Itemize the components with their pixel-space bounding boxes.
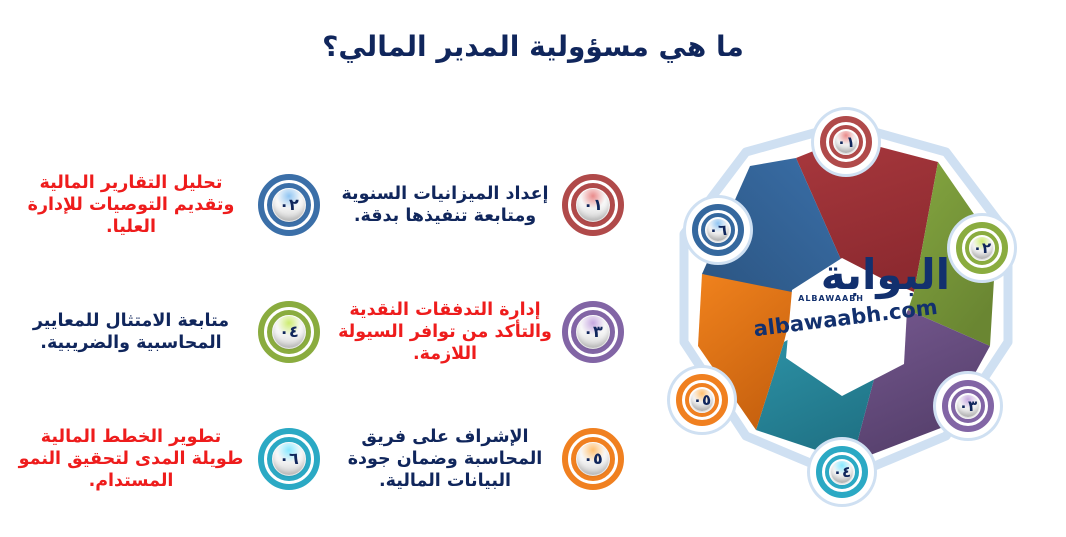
list-item: ٠٤ متابعة الامتثال للمعايير المحاسبية وا… [8, 286, 320, 378]
badge-number: ٠٦ [709, 221, 727, 239]
list-item-text: إعداد الميزانيات السنوية ومتابعة تنفيذها… [332, 183, 552, 227]
wheel-badge-04: ٠٤ [810, 440, 874, 504]
badge-number: ٠٢ [279, 197, 299, 213]
wheel-badge-06: ٠٦ [686, 198, 750, 262]
badge-core: ٠٤ [831, 461, 853, 483]
badge-number: ٠٦ [279, 451, 299, 467]
number-badge-02: ٠٢ [258, 174, 320, 236]
number-badge-06: ٠٦ [258, 428, 320, 490]
wheel-badge-02: ٠٢ [950, 216, 1014, 280]
badge-number: ٠٣ [583, 324, 603, 340]
badge-core: ٠٦ [273, 443, 305, 475]
badge-core: ٠٤ [273, 316, 305, 348]
badge-core: ٠٣ [577, 316, 609, 348]
wheel-badge-01: ٠١ [814, 110, 878, 174]
page-title: ما هي مسؤولية المدير المالي؟ [0, 30, 1066, 63]
badge-number: ٠٣ [959, 397, 977, 415]
text-column-inner: ٠١ إعداد الميزانيات السنوية ومتابعة تنفي… [332, 150, 624, 537]
number-badge-03: ٠٣ [562, 301, 624, 363]
list-item: ٠٥ الإشراف على فريق المحاسبة وضمان جودة … [332, 404, 624, 514]
list-item: ٠١ إعداد الميزانيات السنوية ومتابعة تنفي… [332, 150, 624, 260]
list-item: ٠٦ تطوير الخطط المالية طويلة المدى لتحقي… [8, 404, 320, 514]
text-column-outer: ٠٢ تحليل التقارير المالية وتقديم التوصيا… [8, 150, 320, 537]
list-item-text: الإشراف على فريق المحاسبة وضمان جودة الب… [332, 426, 552, 492]
badge-core: ٠٦ [707, 219, 729, 241]
pinwheel-diagram: البوابة ALBAWAABH albawaabh.com ٠١ ٠٢ ٠٣ [646, 96, 1046, 506]
badge-core: ٠٢ [273, 189, 305, 221]
badge-number: ٠٥ [693, 391, 711, 409]
badge-number: ٠٢ [973, 239, 991, 257]
badge-core: ٠٥ [577, 443, 609, 475]
badge-number: ٠٤ [279, 324, 299, 340]
list-item-text: إدارة التدفقات النقدية والتأكد من توافر … [332, 299, 552, 365]
number-badge-04: ٠٤ [258, 301, 320, 363]
badge-core: ٠٥ [691, 389, 713, 411]
badge-number: ٠١ [837, 133, 855, 151]
list-item-text: تطوير الخطط المالية طويلة المدى لتحقيق ا… [8, 426, 248, 492]
badge-core: ٠٣ [957, 395, 979, 417]
badge-number: ٠٤ [833, 463, 851, 481]
list-item: ٠٢ تحليل التقارير المالية وتقديم التوصيا… [8, 150, 320, 260]
list-item: ٠٣ إدارة التدفقات النقدية والتأكد من توا… [332, 286, 624, 378]
wheel-badge-05: ٠٥ [670, 368, 734, 432]
list-item-text: تحليل التقارير المالية وتقديم التوصيات ل… [8, 172, 248, 238]
badge-core: ٠١ [835, 131, 857, 153]
number-badge-05: ٠٥ [562, 428, 624, 490]
badge-number: ٠٥ [583, 451, 603, 467]
list-item-text: متابعة الامتثال للمعايير المحاسبية والضر… [8, 310, 248, 354]
badge-core: ٠١ [577, 189, 609, 221]
number-badge-01: ٠١ [562, 174, 624, 236]
badge-number: ٠١ [583, 197, 603, 213]
badge-core: ٠٢ [971, 237, 993, 259]
infographic-canvas: ما هي مسؤولية المدير المالي؟ ٠٢ تحليل ال… [0, 0, 1066, 537]
wheel-badge-03: ٠٣ [936, 374, 1000, 438]
